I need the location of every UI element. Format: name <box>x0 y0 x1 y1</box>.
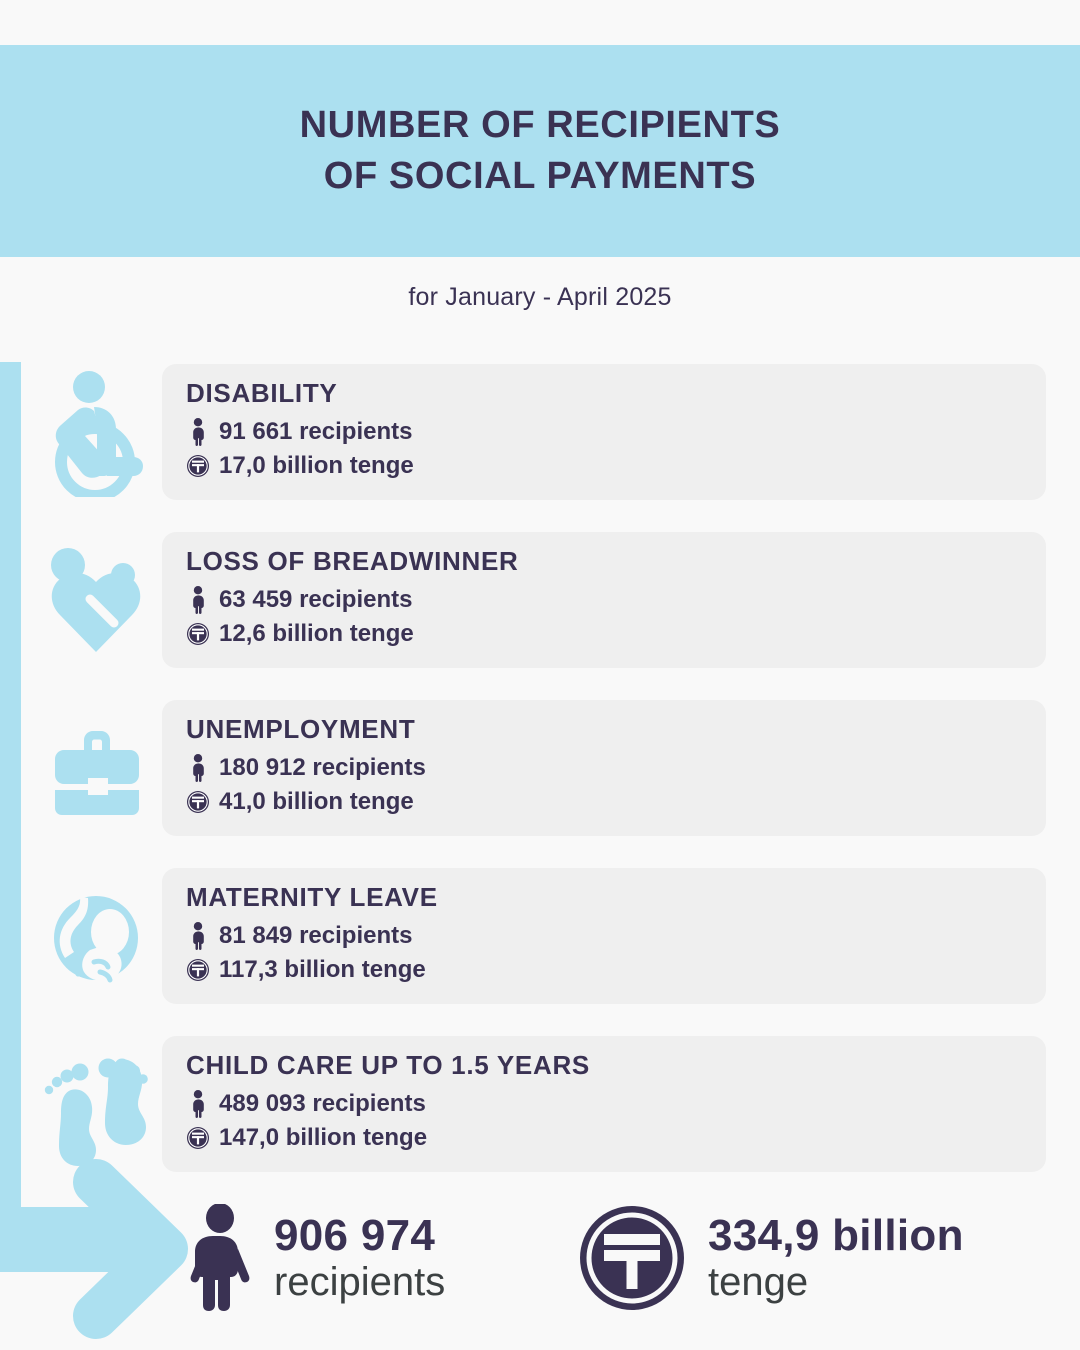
recipients-stat: 489 093 recipients <box>186 1087 1046 1121</box>
amount-value: 117,3 billion tenge <box>219 953 426 987</box>
tenge-coin-large-icon <box>578 1204 686 1312</box>
person-icon <box>186 754 210 782</box>
payment-card[interactable]: MATERNITY LEAVE 81 849 recipients <box>162 868 1046 1004</box>
list-item[interactable]: UNEMPLOYMENT 180 912 recipients <box>0 700 1080 868</box>
total-amount-label: tenge <box>708 1260 964 1305</box>
amount-value: 147,0 billion tenge <box>219 1121 427 1155</box>
recipients-stat: 81 849 recipients <box>186 919 1046 953</box>
total-recipients-label: recipients <box>274 1260 445 1305</box>
tenge-coin-icon <box>186 1126 210 1150</box>
total-recipients-block: 906 974 recipients <box>188 1204 445 1312</box>
title-line-2: OF SOCIAL PAYMENTS <box>300 151 781 202</box>
recipients-stat: 180 912 recipients <box>186 751 1046 785</box>
list-item[interactable]: LOSS OF BREADWINNER 63 459 recipients <box>0 532 1080 700</box>
payment-card[interactable]: CHILD CARE UP TO 1.5 YEARS 489 093 recip… <box>162 1036 1046 1172</box>
recipients-value: 81 849 recipients <box>219 919 412 953</box>
person-icon <box>186 922 210 950</box>
recipients-stat: 91 661 recipients <box>186 415 1046 449</box>
header-band: NUMBER OF RECIPIENTS OF SOCIAL PAYMENTS <box>0 45 1080 257</box>
amount-stat: 17,0 billion tenge <box>186 449 1046 483</box>
totals-footer: 906 974 recipients 334,9 billion tenge <box>0 1196 1080 1346</box>
amount-value: 17,0 billion tenge <box>219 449 414 483</box>
period-subtitle: for January - April 2025 <box>0 283 1080 312</box>
amount-stat: 12,6 billion tenge <box>186 617 1046 651</box>
amount-value: 41,0 billion tenge <box>219 785 414 819</box>
total-amount-text: 334,9 billion tenge <box>708 1211 964 1305</box>
recipients-stat: 63 459 recipients <box>186 583 1046 617</box>
person-icon <box>186 418 210 446</box>
baby-footprints-icon <box>40 1036 152 1176</box>
amount-stat: 117,3 billion tenge <box>186 953 1046 987</box>
card-title: UNEMPLOYMENT <box>186 714 1046 745</box>
page-title: NUMBER OF RECIPIENTS OF SOCIAL PAYMENTS <box>300 100 781 201</box>
payment-card[interactable]: DISABILITY 91 661 recipients <box>162 364 1046 500</box>
list-item[interactable]: DISABILITY 91 661 recipients <box>0 364 1080 532</box>
tenge-coin-icon <box>186 790 210 814</box>
person-icon <box>186 586 210 614</box>
card-title: DISABILITY <box>186 378 1046 409</box>
total-amount-value: 334,9 billion <box>708 1211 964 1260</box>
card-title: MATERNITY LEAVE <box>186 882 1046 913</box>
tenge-coin-icon <box>186 454 210 478</box>
amount-stat: 147,0 billion tenge <box>186 1121 1046 1155</box>
payment-card[interactable]: LOSS OF BREADWINNER 63 459 recipients <box>162 532 1046 668</box>
wheelchair-icon <box>40 364 152 504</box>
recipients-value: 489 093 recipients <box>219 1087 426 1121</box>
card-title: LOSS OF BREADWINNER <box>186 546 1046 577</box>
recipients-value: 63 459 recipients <box>219 583 412 617</box>
recipients-value: 91 661 recipients <box>219 415 412 449</box>
list-item[interactable]: CHILD CARE UP TO 1.5 YEARS 489 093 recip… <box>0 1036 1080 1204</box>
payment-card[interactable]: UNEMPLOYMENT 180 912 recipients <box>162 700 1046 836</box>
tenge-coin-icon <box>186 622 210 646</box>
pregnancy-icon <box>40 868 152 1008</box>
total-amount-block: 334,9 billion tenge <box>578 1204 964 1312</box>
payment-rows-list: DISABILITY 91 661 recipients <box>0 364 1080 1204</box>
recipients-value: 180 912 recipients <box>219 751 426 785</box>
amount-stat: 41,0 billion tenge <box>186 785 1046 819</box>
total-recipients-text: 906 974 recipients <box>274 1211 445 1305</box>
tenge-coin-icon <box>186 958 210 982</box>
person-icon <box>186 1090 210 1118</box>
list-item[interactable]: MATERNITY LEAVE 81 849 recipients <box>0 868 1080 1036</box>
briefcase-icon <box>40 700 152 840</box>
heart-family-icon <box>40 532 152 672</box>
card-title: CHILD CARE UP TO 1.5 YEARS <box>186 1050 1046 1081</box>
title-line-1: NUMBER OF RECIPIENTS <box>300 100 781 151</box>
total-recipients-value: 906 974 <box>274 1211 445 1260</box>
amount-value: 12,6 billion tenge <box>219 617 414 651</box>
person-large-icon <box>188 1204 252 1312</box>
